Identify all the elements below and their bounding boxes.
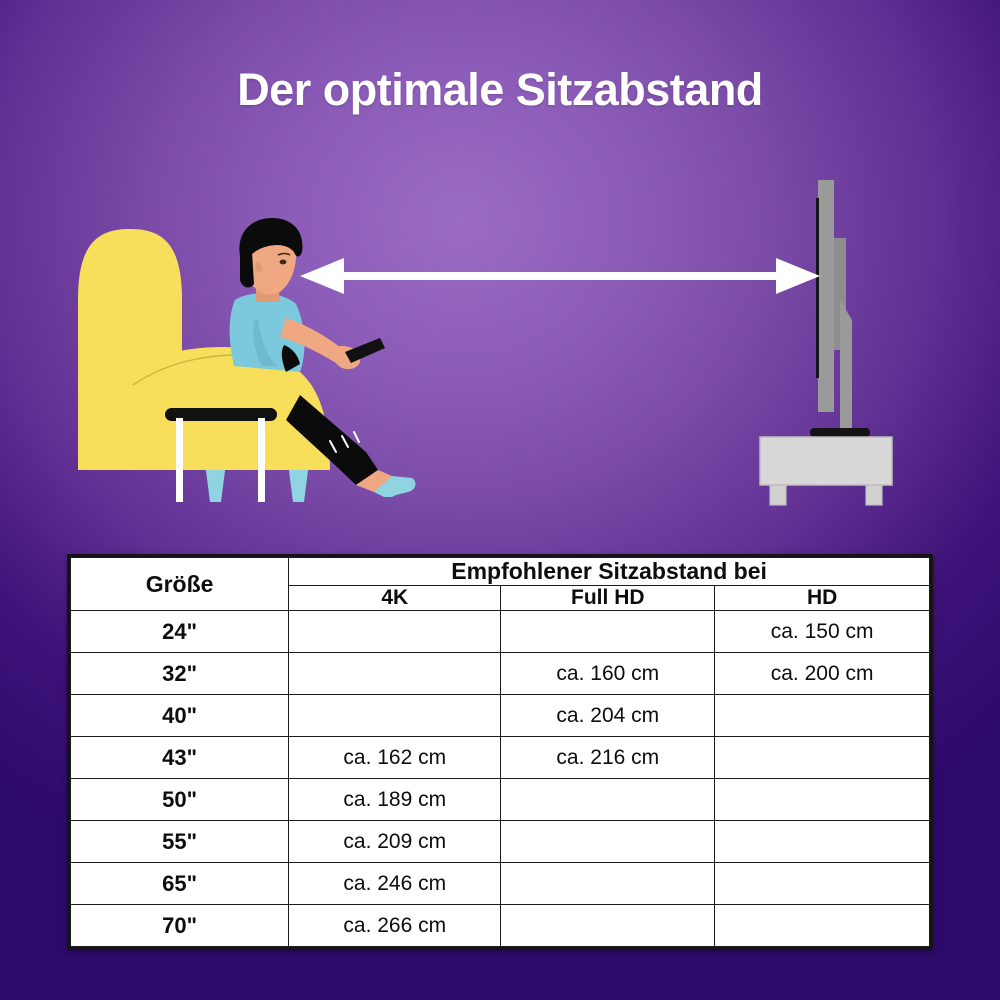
tv-cabinet-leg-right <box>866 485 882 505</box>
cell-fullhd <box>501 863 715 905</box>
cell-hd <box>715 737 930 779</box>
person-hair-back <box>240 252 254 287</box>
arrow-head-left <box>300 258 344 294</box>
header-4k: 4K <box>289 586 501 611</box>
tv-screen-edge <box>816 198 819 378</box>
cell-4k: ca. 246 cm <box>289 863 501 905</box>
cell-4k: ca. 162 cm <box>289 737 501 779</box>
cell-fullhd <box>501 905 715 947</box>
cell-4k <box>289 695 501 737</box>
table-row: 55" ca. 209 cm <box>71 821 930 863</box>
cell-hd <box>715 695 930 737</box>
tv-panel-back <box>818 180 834 412</box>
cell-size: 70" <box>71 905 289 947</box>
table-row: 43" ca. 162 cm ca. 216 cm <box>71 737 930 779</box>
table-head: Größe Empfohlener Sitzabstand bei 4K Ful… <box>71 558 930 611</box>
cell-size: 55" <box>71 821 289 863</box>
cell-fullhd: ca. 160 cm <box>501 653 715 695</box>
cell-hd: ca. 200 cm <box>715 653 930 695</box>
cell-size: 43" <box>71 737 289 779</box>
infographic-root: Der optimale Sitzabstand <box>0 0 1000 1000</box>
cell-hd <box>715 779 930 821</box>
tv-stand-neck <box>840 300 852 428</box>
table-row: 40" ca. 204 cm <box>71 695 930 737</box>
cell-fullhd: ca. 216 cm <box>501 737 715 779</box>
cell-fullhd <box>501 821 715 863</box>
cell-4k <box>289 611 501 653</box>
cell-fullhd <box>501 779 715 821</box>
table-row: 32" ca. 160 cm ca. 200 cm <box>71 653 930 695</box>
cell-fullhd <box>501 611 715 653</box>
side-table-leg-right <box>258 418 265 502</box>
cell-size: 50" <box>71 779 289 821</box>
cell-4k <box>289 653 501 695</box>
header-size: Größe <box>71 558 289 611</box>
table-row: 65" ca. 246 cm <box>71 863 930 905</box>
cell-hd <box>715 905 930 947</box>
table-row: 70" ca. 266 cm <box>71 905 930 947</box>
cell-hd <box>715 821 930 863</box>
distance-arrow <box>300 258 820 294</box>
cell-hd: ca. 150 cm <box>715 611 930 653</box>
cell-size: 24" <box>71 611 289 653</box>
television-group <box>760 180 892 505</box>
cell-4k: ca. 209 cm <box>289 821 501 863</box>
tv-stand-base <box>810 428 870 437</box>
header-group: Empfohlener Sitzabstand bei <box>289 558 930 586</box>
header-full-hd: Full HD <box>501 586 715 611</box>
header-hd: HD <box>715 586 930 611</box>
table-row: 50" ca. 189 cm <box>71 779 930 821</box>
cell-4k: ca. 266 cm <box>289 905 501 947</box>
tv-cabinet <box>760 437 892 485</box>
cell-size: 40" <box>71 695 289 737</box>
cell-4k: ca. 189 cm <box>289 779 501 821</box>
tv-cabinet-leg-left <box>770 485 786 505</box>
cell-size: 65" <box>71 863 289 905</box>
cell-hd <box>715 863 930 905</box>
distance-table-container: Größe Empfohlener Sitzabstand bei 4K Ful… <box>67 554 933 950</box>
remote-control <box>345 338 385 363</box>
arrow-head-right <box>776 258 820 294</box>
cell-size: 32" <box>71 653 289 695</box>
side-table-leg-left <box>176 418 183 502</box>
table-row: 24" ca. 150 cm <box>71 611 930 653</box>
person-eye <box>280 260 287 265</box>
distance-table: Größe Empfohlener Sitzabstand bei 4K Ful… <box>70 557 930 947</box>
cell-fullhd: ca. 204 cm <box>501 695 715 737</box>
table-body: 24" ca. 150 cm 32" ca. 160 cm ca. 200 cm… <box>71 611 930 947</box>
table-header-row-group: Größe Empfohlener Sitzabstand bei <box>71 558 930 586</box>
